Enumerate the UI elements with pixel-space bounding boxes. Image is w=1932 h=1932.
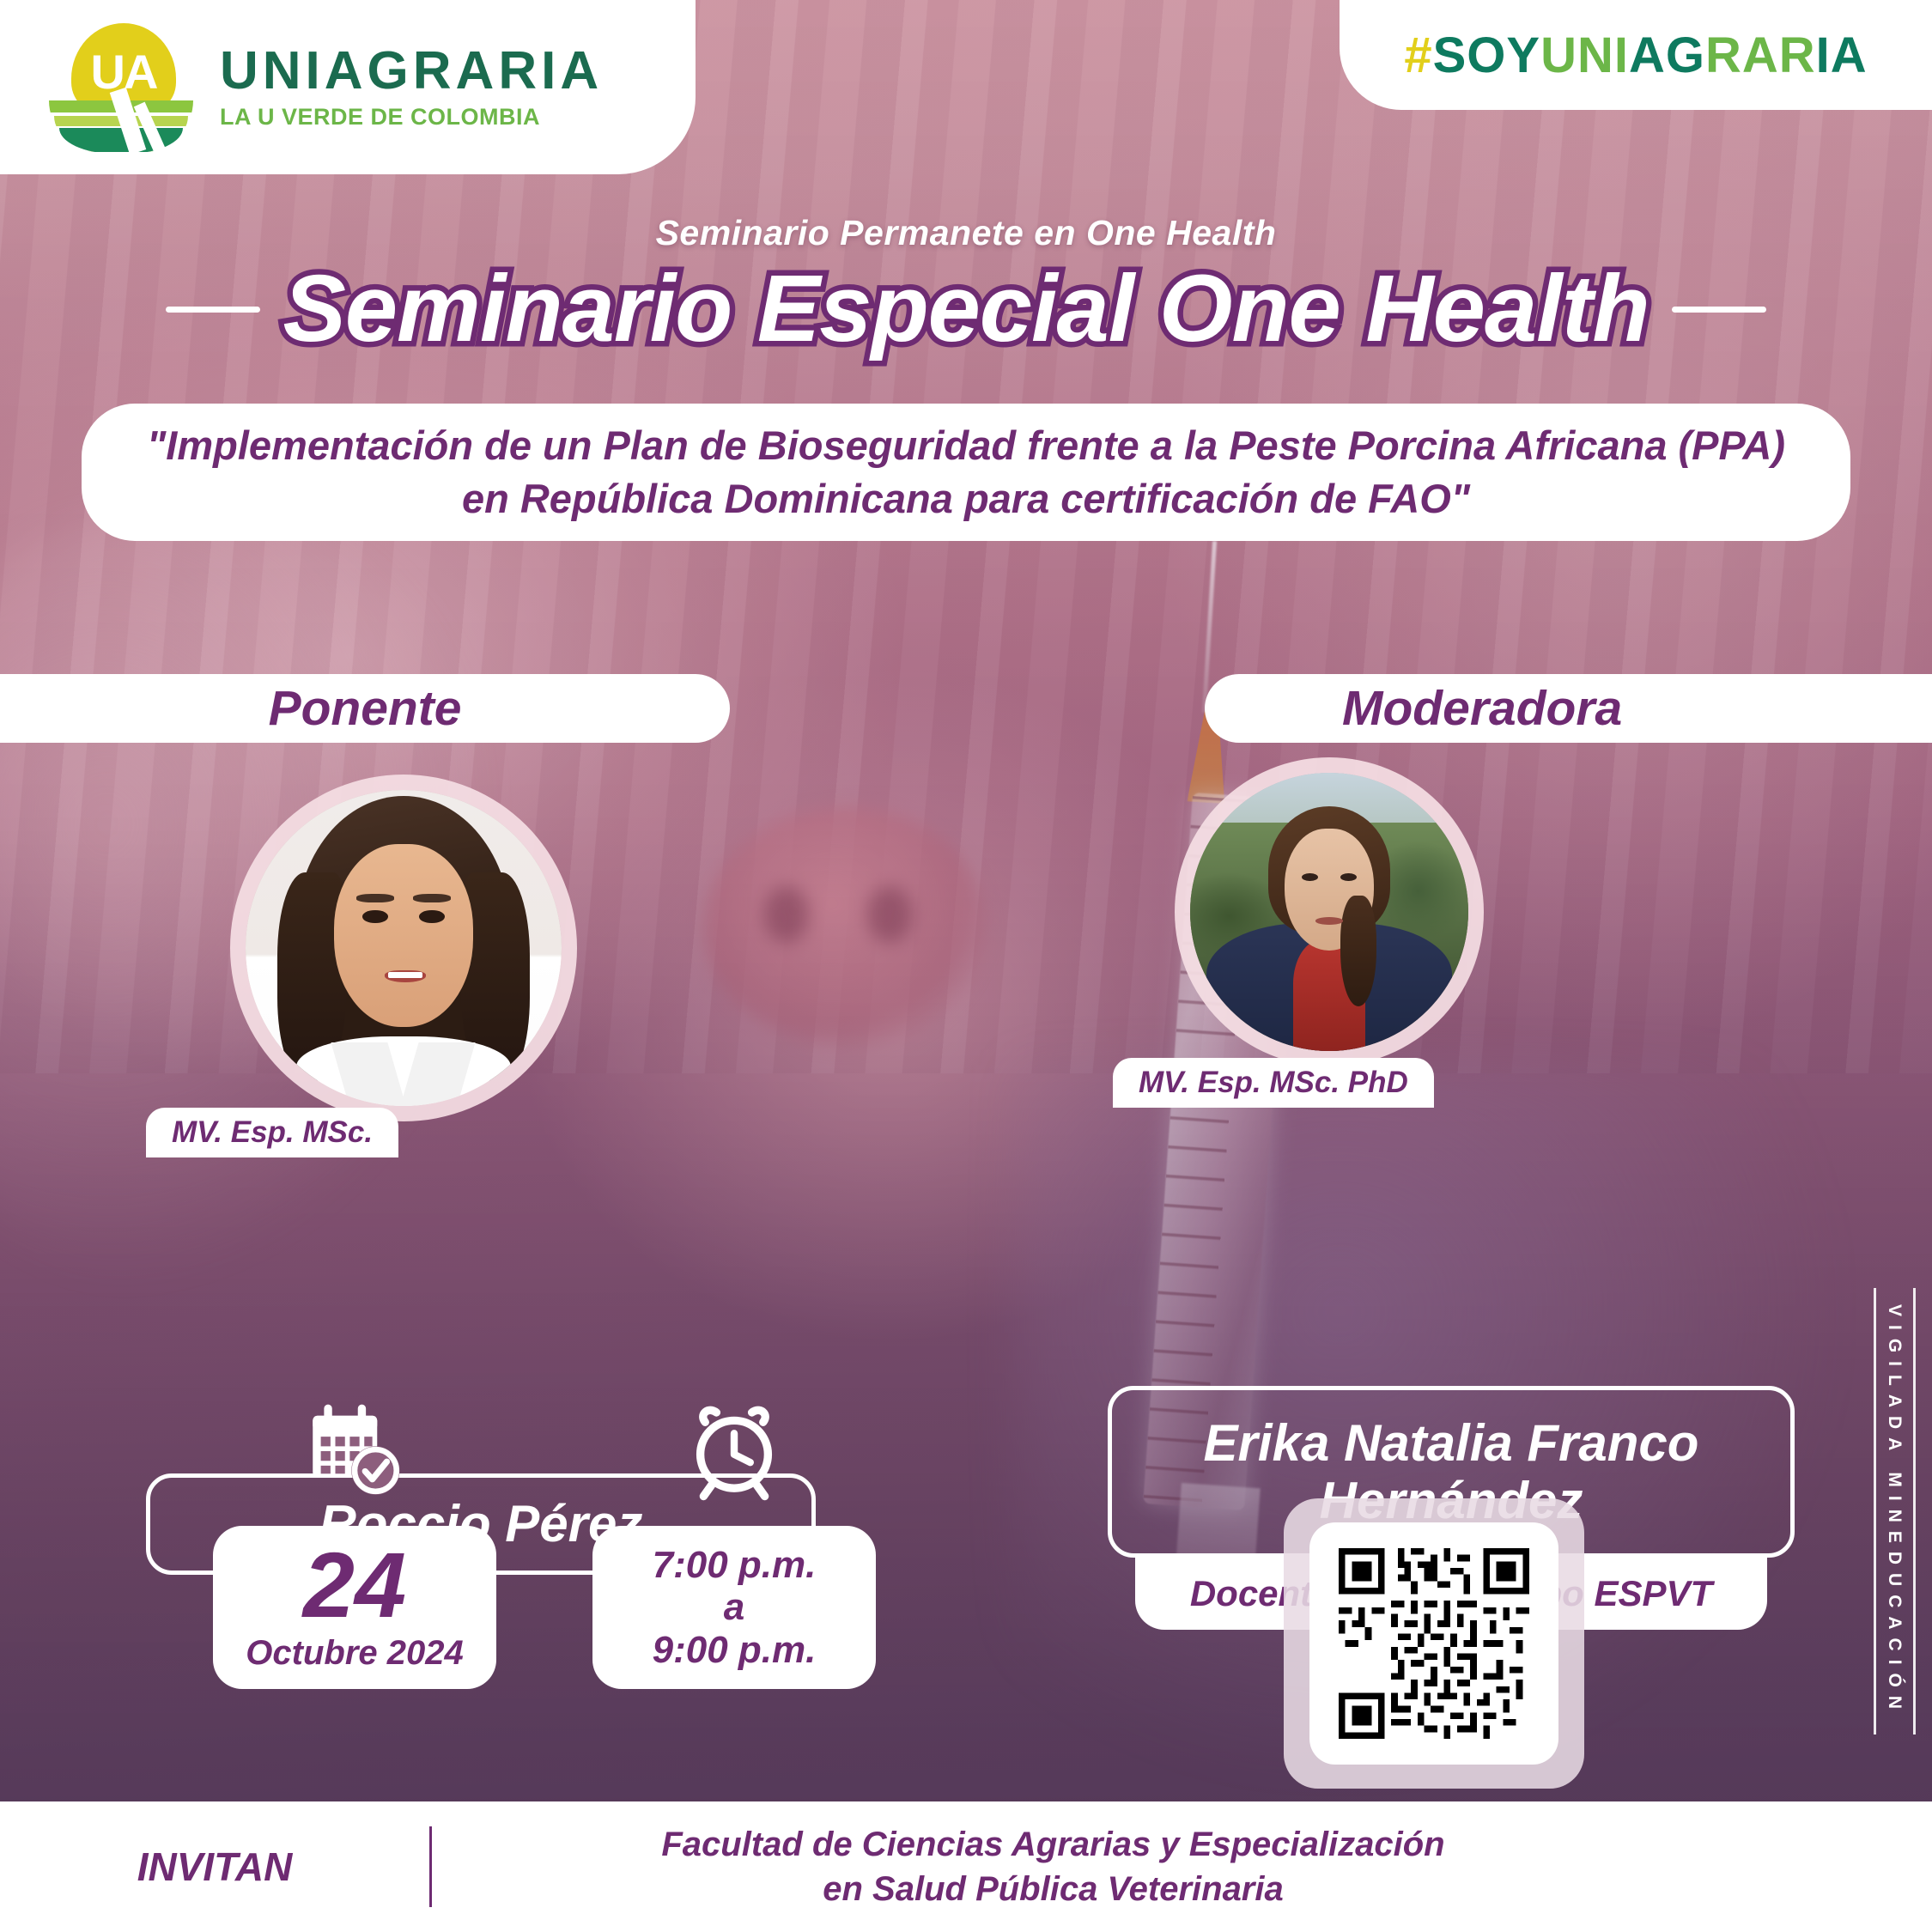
pretitle: Seminario Permanete en One Health — [0, 213, 1932, 253]
role-pill-moderadora: Moderadora — [1205, 674, 1932, 743]
hashtag-seg-2: UNI — [1540, 27, 1629, 83]
hashtag-badge: #SOYUNIAGRARIA — [1340, 0, 1932, 110]
event-month-year: Octubre 2024 — [246, 1634, 463, 1673]
event-time-block: 7:00 p.m. a 9:00 p.m. — [592, 1395, 876, 1689]
time-start: 7:00 p.m. — [653, 1544, 817, 1586]
footer-bar: INVITAN Facultad de Ciencias Agrarias y … — [0, 1801, 1932, 1932]
footer-faculty: Facultad de Ciencias Agrarias y Especial… — [432, 1822, 1932, 1911]
tagline-part-1: LA — [220, 104, 258, 130]
time-separator: a — [724, 1586, 744, 1628]
footer-invitan-label: INVITAN — [0, 1844, 429, 1890]
uniagraria-logo-badge: UA UNIAGRARIA LA U VERDE DE COLOMBIA — [0, 0, 696, 174]
event-date-block: 24 Octubre 2024 — [213, 1395, 496, 1689]
vigilada-text: VIGILADA MINEDUCACIÓN — [1884, 1304, 1905, 1717]
poster-canvas: UA UNIAGRARIA LA U VERDE DE COLOMBIA #SO… — [0, 0, 1932, 1932]
tagline-part-3: DE COLOMBIA — [364, 104, 541, 130]
event-day: 24 — [303, 1542, 406, 1627]
hashtag-symbol: # — [1404, 27, 1432, 83]
vigilada-mineducacion: VIGILADA MINEDUCACIÓN — [1863, 1288, 1925, 1735]
hashtag-seg-3: AG — [1629, 27, 1705, 83]
qr-code-container[interactable] — [1284, 1498, 1584, 1789]
degree-badge-ponente: MV. Esp. MSc. — [146, 1108, 398, 1157]
logo-wordmark: UNIAGRARIA — [220, 45, 603, 98]
role-label-ponente: Ponente — [269, 680, 462, 737]
qr-code-icon[interactable] — [1339, 1548, 1529, 1739]
alarm-clock-icon — [592, 1395, 876, 1507]
time-card: 7:00 p.m. a 9:00 p.m. — [592, 1526, 876, 1689]
title-rule-right — [1672, 307, 1766, 313]
ua-logo-icon: UA — [47, 23, 197, 152]
avatar-ponente — [246, 790, 562, 1106]
subtitle-card: "Implementación de un Plan de Biosegurid… — [82, 404, 1850, 541]
subtitle-text: "Implementación de un Plan de Biosegurid… — [142, 419, 1790, 526]
hashtag-text: #SOYUNIAGRARIA — [1404, 27, 1867, 84]
avatar-moderadora — [1190, 773, 1468, 1051]
footer-faculty-line-1: Facultad de Ciencias Agrarias y Especial… — [432, 1822, 1674, 1867]
title-rule-left — [166, 307, 260, 313]
footer-faculty-line-2: en Salud Pública Veterinaria — [432, 1867, 1674, 1911]
role-label-moderadora: Moderadora — [1342, 680, 1622, 737]
degree-badge-moderadora: MV. Esp. MSc. PhD — [1113, 1058, 1434, 1108]
time-end: 9:00 p.m. — [653, 1629, 817, 1671]
main-title-row: Seminario Especial One Health — [0, 253, 1932, 365]
logo-tagline: LA U VERDE DE COLOMBIA — [220, 104, 603, 131]
hashtag-seg-4: RAR — [1705, 27, 1816, 83]
role-pill-ponente: Ponente — [0, 674, 730, 743]
calendar-check-icon — [213, 1395, 496, 1507]
page-title: Seminario Especial One Health — [283, 262, 1649, 356]
ua-monogram: UA — [71, 42, 176, 102]
tagline-part-2: U VERDE — [258, 104, 364, 130]
hashtag-seg-1: SOY — [1433, 27, 1541, 83]
hashtag-seg-5: IA — [1816, 27, 1868, 83]
date-card: 24 Octubre 2024 — [213, 1526, 496, 1689]
